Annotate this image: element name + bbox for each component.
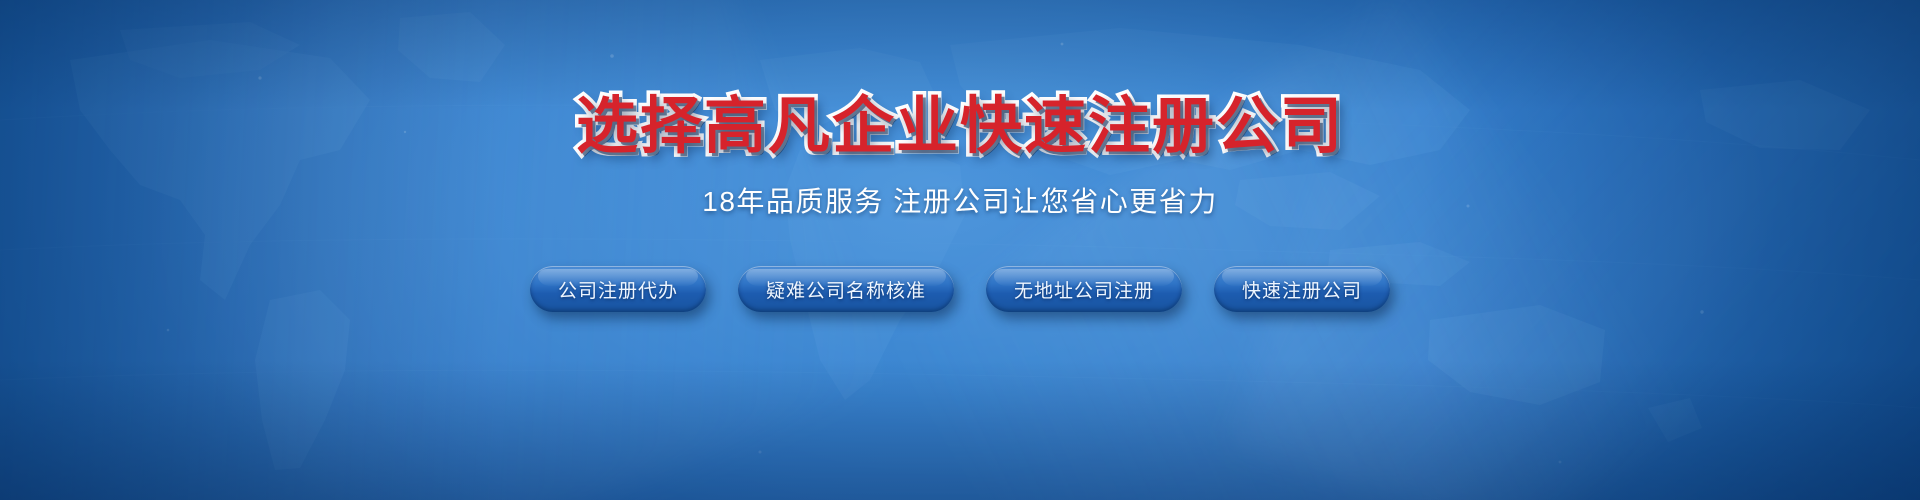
- banner-subheadline: 18年品质服务 注册公司让您省心更省力: [702, 188, 1217, 216]
- pill-label: 无地址公司注册: [1014, 276, 1154, 303]
- service-pill-fast-registration[interactable]: 快速注册公司: [1214, 266, 1390, 312]
- pill-label: 快速注册公司: [1242, 276, 1362, 303]
- pill-label: 公司注册代办: [558, 276, 678, 303]
- service-pill-company-registration-agency[interactable]: 公司注册代办: [530, 266, 706, 312]
- service-pill-difficult-name-approval[interactable]: 疑难公司名称核准: [738, 266, 954, 312]
- banner-headline: 选择高凡企业快速注册公司: [576, 96, 1344, 158]
- promo-banner: 选择高凡企业快速注册公司 18年品质服务 注册公司让您省心更省力 公司注册代办 …: [0, 0, 1920, 500]
- service-pill-no-address-registration[interactable]: 无地址公司注册: [986, 266, 1182, 312]
- banner-content: 选择高凡企业快速注册公司 18年品质服务 注册公司让您省心更省力 公司注册代办 …: [0, 0, 1920, 500]
- pill-label: 疑难公司名称核准: [766, 276, 926, 303]
- service-pill-row: 公司注册代办 疑难公司名称核准 无地址公司注册 快速注册公司: [530, 266, 1390, 312]
